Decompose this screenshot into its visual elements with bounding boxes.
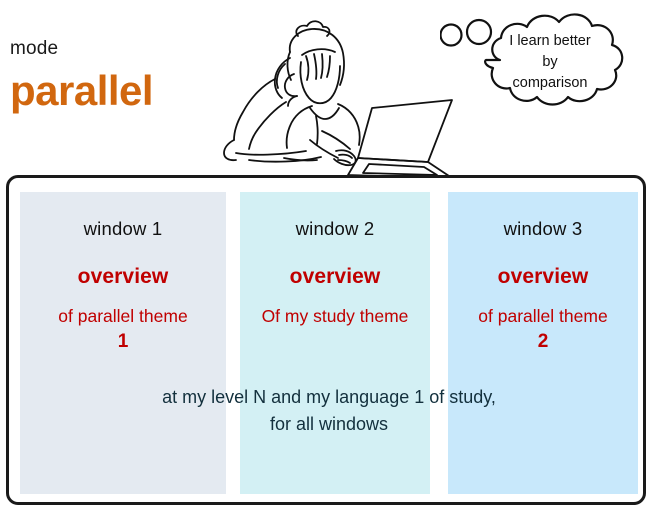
window-column-3[interactable]: window 3 overview of parallel theme 2 [448, 192, 638, 494]
windows-panel: window 1 overview of parallel theme 1 wi… [6, 175, 646, 505]
window-1-heading: overview [20, 265, 226, 289]
window-2-subtitle-text: Of my study theme [262, 306, 409, 326]
window-3-subtitle-text: of parallel theme [478, 306, 607, 326]
thought-bubble-line-2: by [470, 52, 630, 73]
person-studying-at-laptop-illustration [206, 0, 466, 178]
mode-label: mode [10, 38, 58, 60]
thought-bubble-line-1: I learn better [470, 31, 630, 52]
window-3-heading: overview [448, 265, 638, 289]
window-column-1[interactable]: window 1 overview of parallel theme 1 [20, 192, 226, 494]
window-1-subtitle-text: of parallel theme [58, 306, 187, 326]
window-3-title: window 3 [448, 218, 638, 240]
window-1-subtitle: of parallel theme 1 [20, 305, 226, 354]
window-column-2[interactable]: window 2 overview Of my study theme [240, 192, 430, 494]
thought-bubble-line-3: comparison [470, 73, 630, 94]
window-1-title: window 1 [20, 218, 226, 240]
window-2-title: window 2 [240, 218, 430, 240]
window-2-subtitle: Of my study theme [240, 305, 430, 329]
thought-bubble-text: I learn better by comparison [470, 31, 630, 94]
window-3-subtitle: of parallel theme 2 [448, 305, 638, 354]
window-2-heading: overview [240, 265, 430, 289]
window-3-theme-number: 2 [452, 329, 634, 355]
mode-value: parallel [10, 70, 153, 112]
window-1-theme-number: 1 [24, 329, 222, 355]
header: mode parallel [0, 0, 656, 176]
